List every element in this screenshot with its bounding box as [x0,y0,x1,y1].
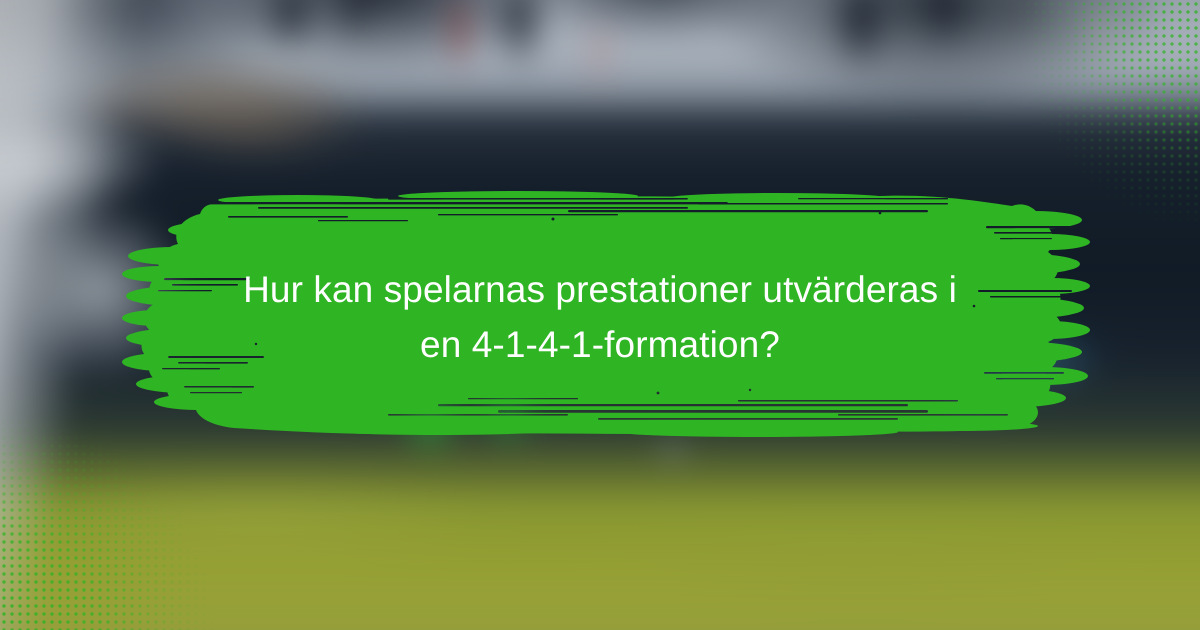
page-title: Hur kan spelarnas prestationer utvärdera… [160,262,1040,372]
share-card: Hur kan spelarnas prestationer utvärdera… [0,0,1200,630]
